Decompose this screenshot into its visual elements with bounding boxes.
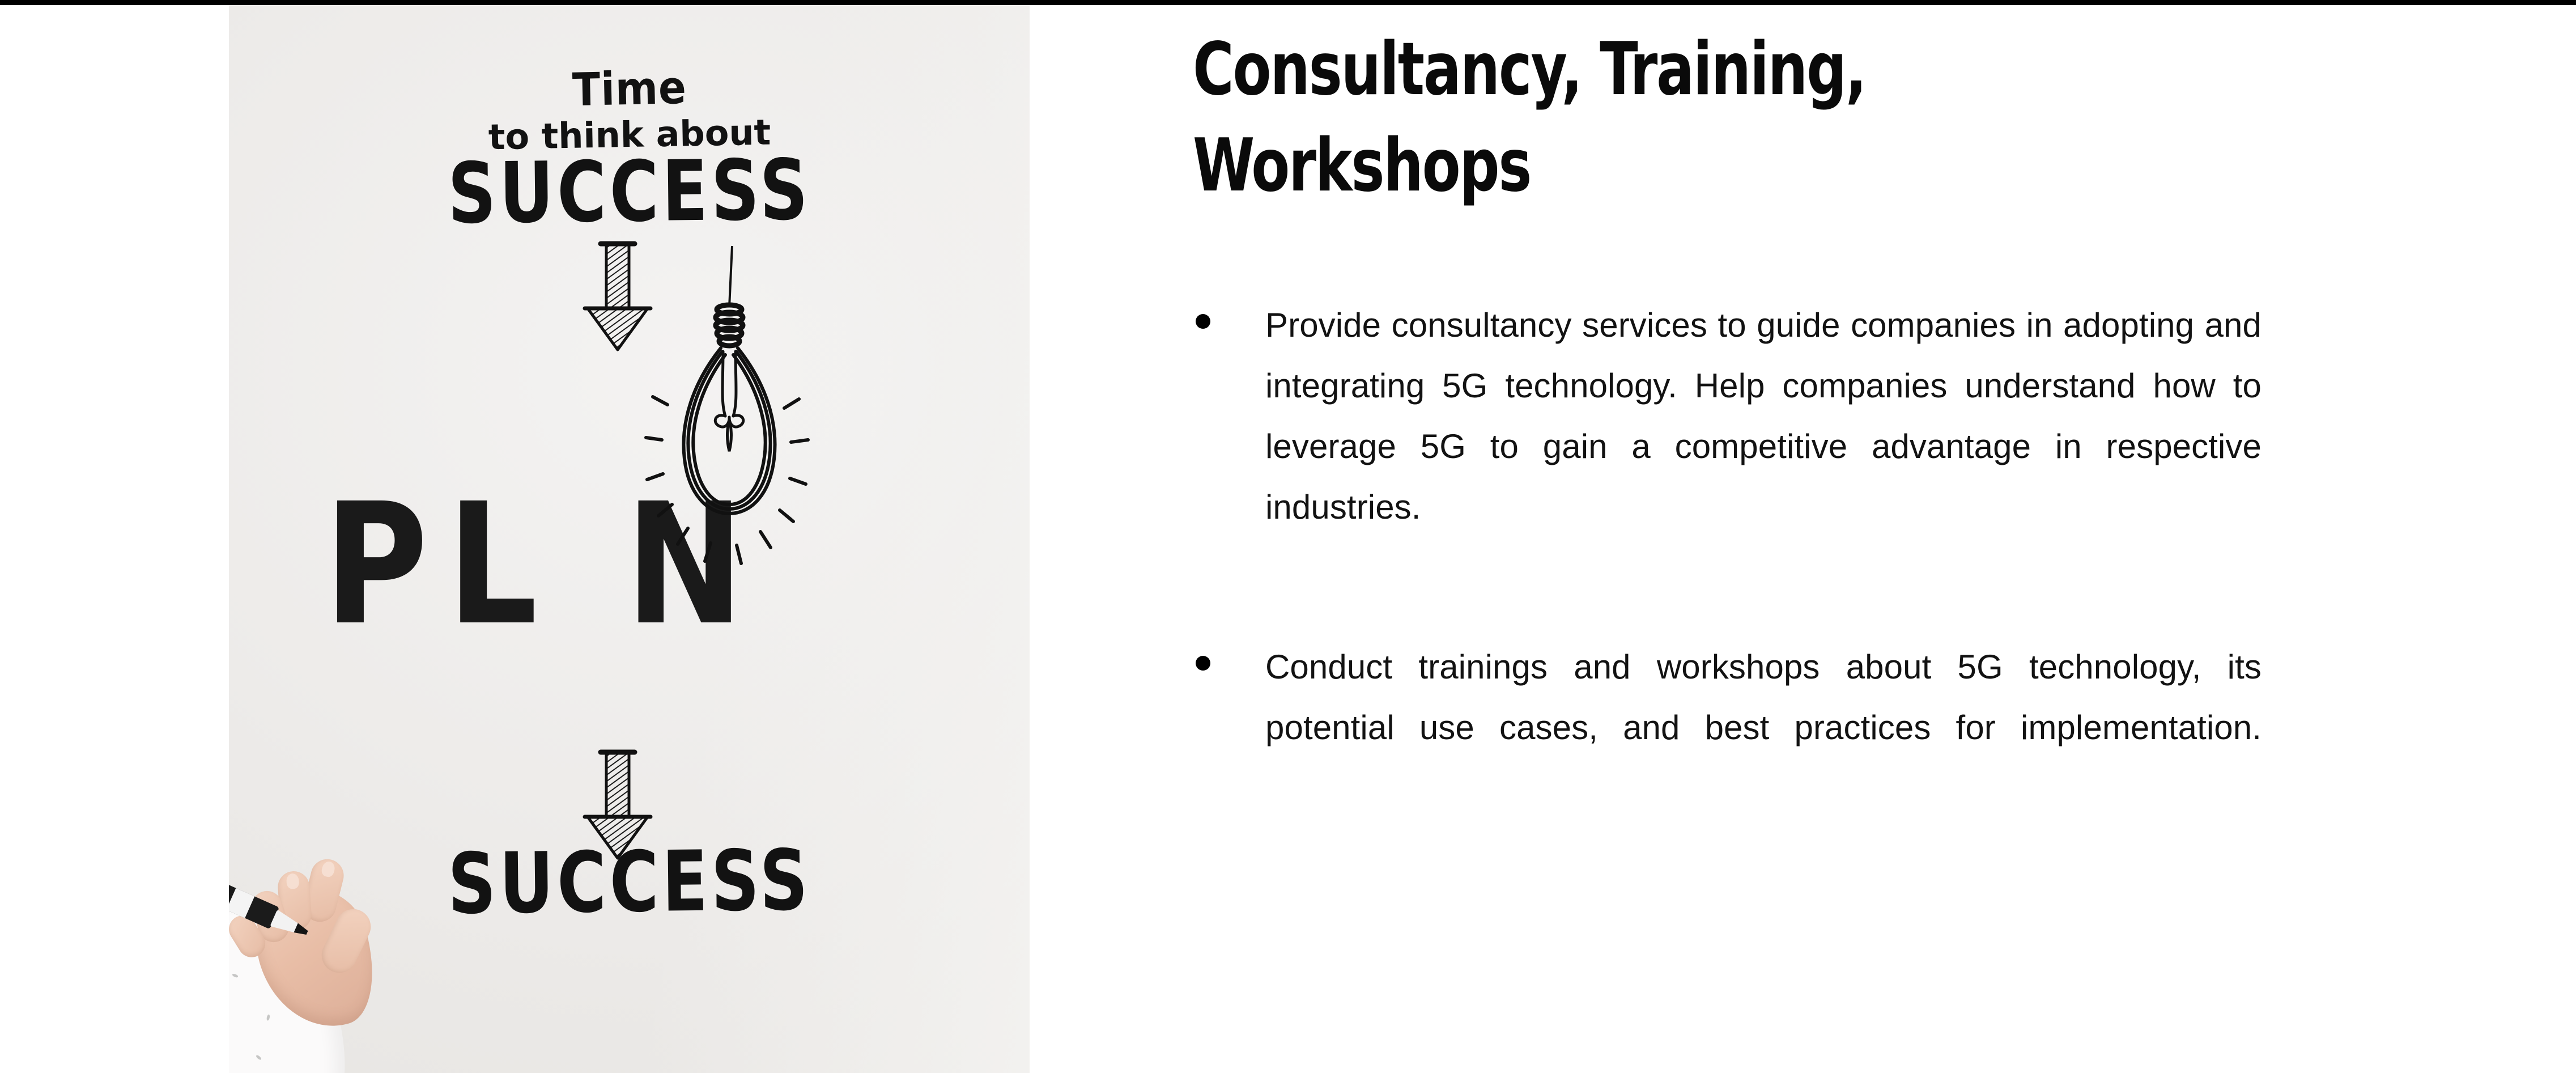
top-divider-rule — [0, 0, 2576, 5]
handwriting-time: Time — [572, 65, 687, 113]
slide-photo-panel: Time to think about SUCCESS PL N — [229, 5, 1030, 1073]
bullet-dot-icon — [1196, 656, 1210, 671]
bullet-text: Provide consultancy services to guide co… — [1265, 295, 2262, 598]
bullet-dot-icon — [1196, 314, 1210, 329]
lightbulb-icon — [626, 240, 830, 580]
hand-with-marker-illustration — [229, 812, 473, 1073]
bullet-text: Conduct trainings and workshops about 5G… — [1265, 637, 2262, 818]
handwriting-success-bottom: SUCCESS — [447, 838, 811, 926]
handwriting-success-top: SUCCESS — [447, 148, 811, 235]
bullet-item: Provide consultancy services to guide co… — [1193, 295, 2264, 598]
bullet-item: Conduct trainings and workshops about 5G… — [1193, 637, 2264, 818]
slide-title: Consultancy, Training, Workshops — [1193, 22, 2021, 214]
bullet-list: Provide consultancy services to guide co… — [1193, 295, 2264, 857]
